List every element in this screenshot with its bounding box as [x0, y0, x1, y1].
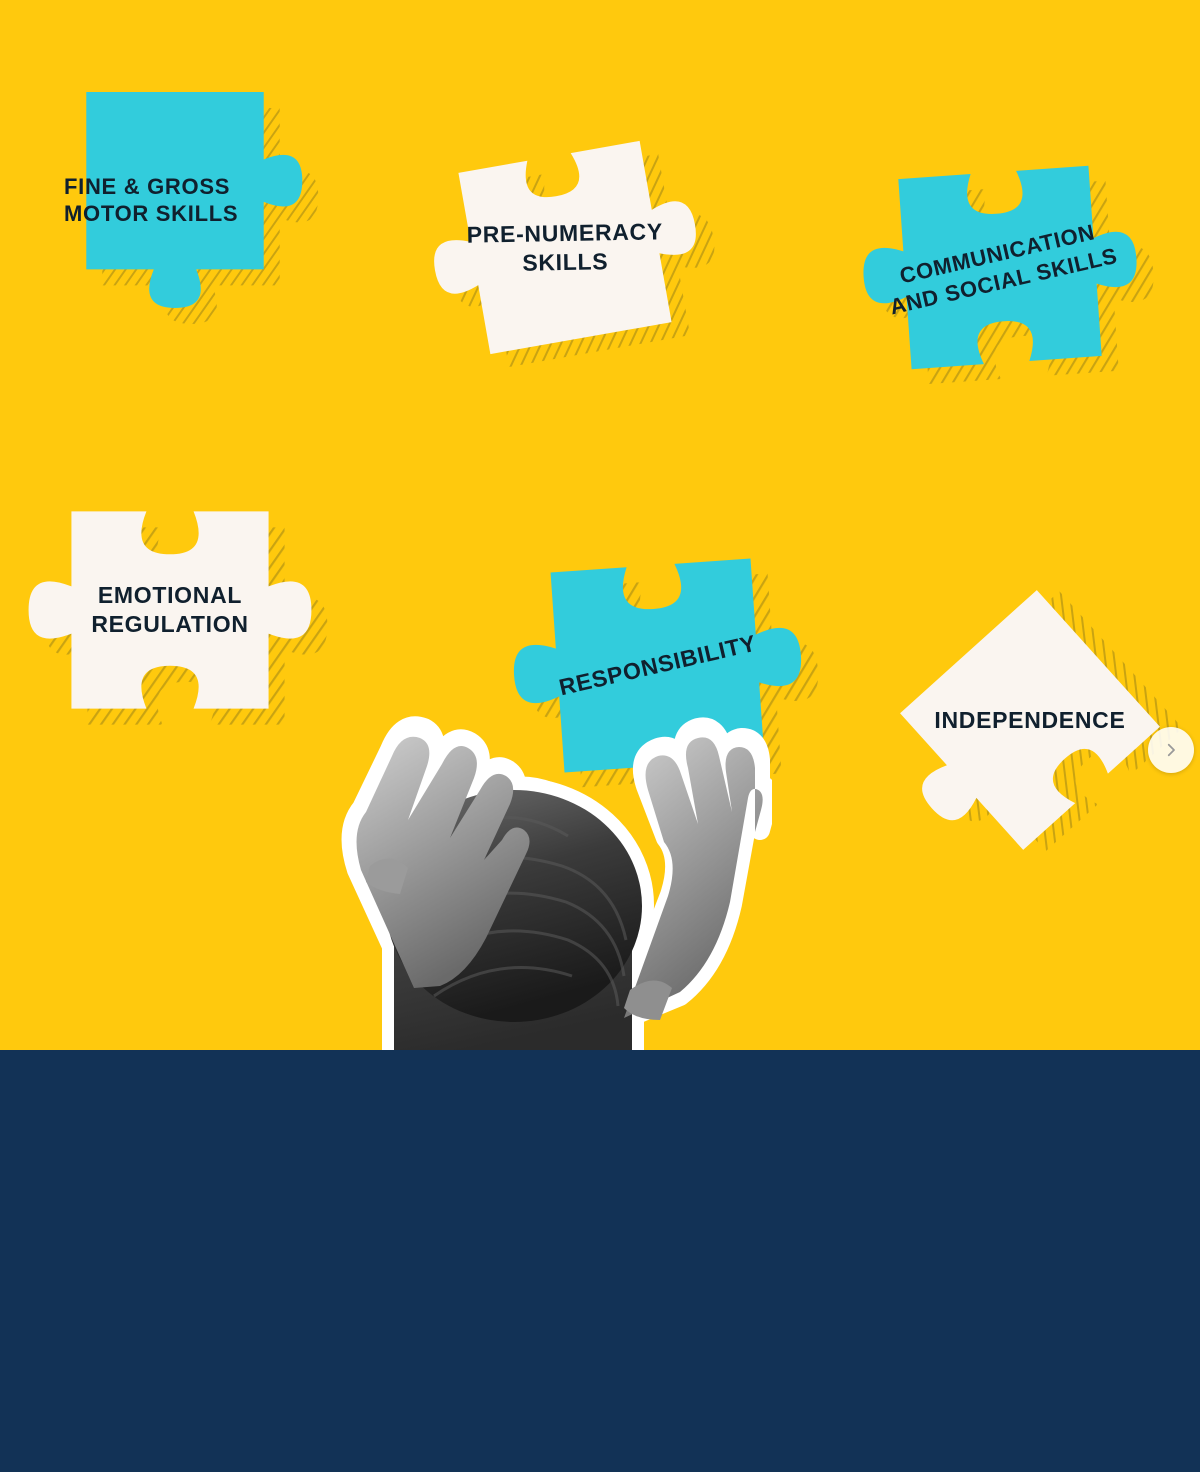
puzzle-piece-body: [846, 125, 1154, 410]
puzzle-piece-pre-numeracy-skills[interactable]: PRE-NUMERACY SKILLS: [405, 98, 725, 398]
puzzle-piece-communication-and-social-skills[interactable]: COMMUNICATION AND SOCIAL SKILLS: [846, 125, 1154, 410]
puzzle-piece-fine-gross-motor-skills[interactable]: FINE & GROSS MOTOR SKILLS: [40, 55, 310, 345]
article-cover-card: FINE & GROSS MOTOR SKILLS PRE-NUMERACY S…: [0, 0, 1200, 1472]
child-photo-cutout: [262, 690, 772, 1050]
puzzle-piece-body: [405, 98, 725, 398]
chevron-right-icon: [1162, 741, 1180, 759]
footer-panel: WHY EARLY YEARS ARE THE MOST IMPORTANT Y…: [0, 1050, 1200, 1472]
puzzle-piece-body: [40, 55, 310, 345]
carousel-next-button[interactable]: [1148, 727, 1194, 773]
hero-illustration-area: FINE & GROSS MOTOR SKILLS PRE-NUMERACY S…: [0, 0, 1200, 1050]
puzzle-piece-independence[interactable]: INDEPENDENCE: [832, 522, 1200, 917]
puzzle-piece-body: [832, 522, 1200, 917]
